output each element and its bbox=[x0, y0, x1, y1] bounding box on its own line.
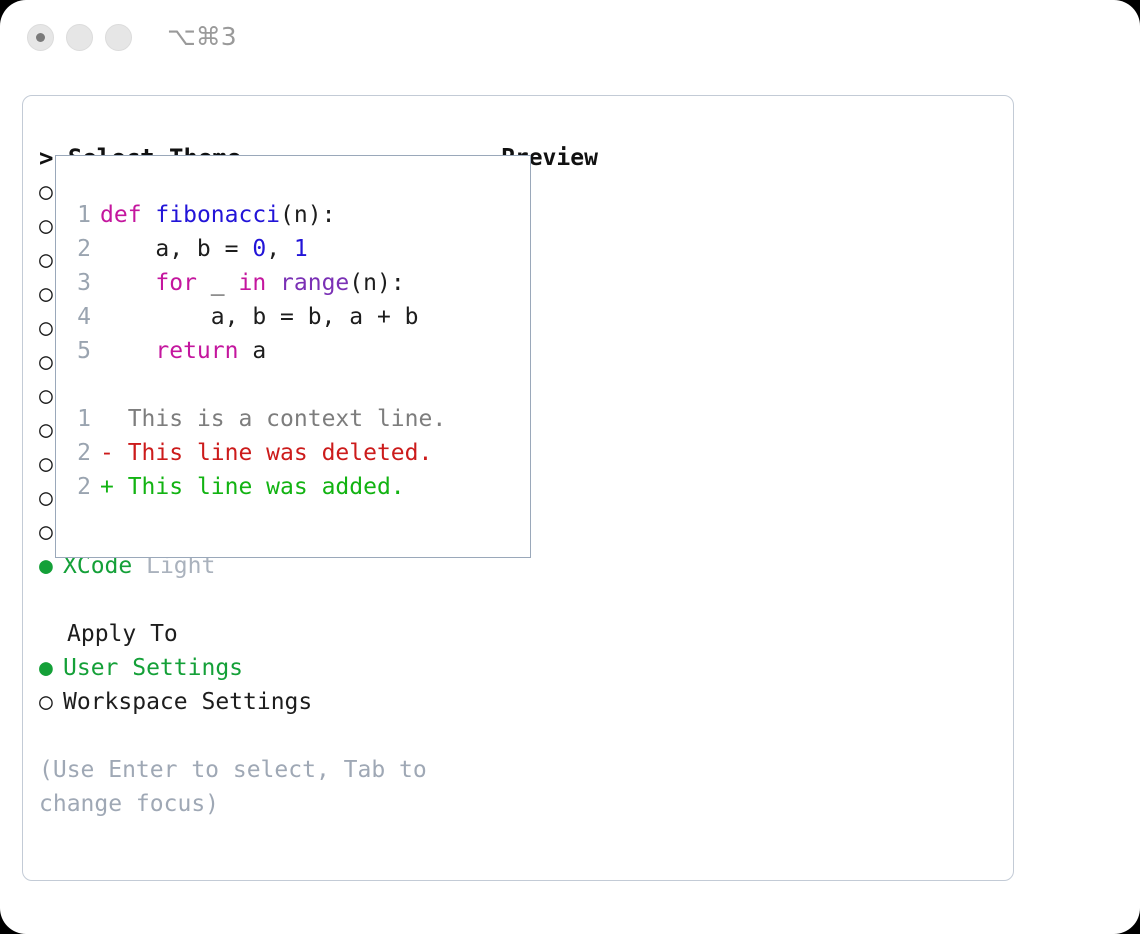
code-line: 1def fibonacci(n): bbox=[74, 198, 514, 232]
main-card: > Select Theme ○ ANSI Dark○ Atom One Dar… bbox=[22, 95, 1014, 881]
radio-selected-icon: ● bbox=[39, 651, 63, 685]
apply-to-heading: Apply To bbox=[39, 617, 479, 651]
line-number: 4 bbox=[74, 300, 91, 334]
apply-to-option[interactable]: ○ Workspace Settings bbox=[39, 685, 479, 719]
code-token: a bbox=[238, 338, 266, 364]
code-token: _ bbox=[197, 270, 239, 296]
apply-to-label: User Settings bbox=[63, 655, 243, 681]
app-window: ⌥⌘3 > Select Theme ○ ANSI Dark○ Atom One… bbox=[0, 0, 1140, 934]
code-token bbox=[142, 202, 156, 228]
code-token: a, b = bbox=[100, 236, 252, 262]
window-titlebar: ⌥⌘3 bbox=[0, 0, 1140, 80]
diff-lines: 1 This is a context line.2- This line wa… bbox=[74, 402, 514, 504]
apply-to-label: Workspace Settings bbox=[63, 689, 312, 715]
code-token: a, b = b, a + b bbox=[100, 304, 419, 330]
code-token: (n): bbox=[280, 202, 335, 228]
diff-marker bbox=[100, 406, 128, 432]
apply-to-list: ● User Settings○ Workspace Settings bbox=[39, 651, 479, 719]
diff-line: 2- This line was deleted. bbox=[74, 436, 514, 470]
code-line: 3 for _ in range(n): bbox=[74, 266, 514, 300]
preview-heading: Preview bbox=[501, 141, 1001, 175]
preview-pane: Preview bbox=[501, 141, 1001, 175]
code-token: 0 bbox=[252, 236, 266, 262]
apply-to-option[interactable]: ● User Settings bbox=[39, 651, 479, 685]
code-token bbox=[100, 338, 155, 364]
traffic-lights bbox=[27, 24, 132, 51]
spacer bbox=[39, 583, 479, 617]
close-dot[interactable] bbox=[27, 24, 54, 51]
preview-box: 1def fibonacci(n):2 a, b = 0, 13 for _ i… bbox=[55, 155, 531, 558]
line-number: 1 bbox=[74, 198, 91, 232]
code-blank-line bbox=[74, 368, 514, 402]
diff-text: This line was deleted. bbox=[128, 440, 433, 466]
code-token: 1 bbox=[294, 236, 308, 262]
minimize-dot[interactable] bbox=[66, 24, 93, 51]
radio-unselected-icon: ○ bbox=[39, 685, 63, 719]
code-token bbox=[100, 270, 155, 296]
code-token: (n): bbox=[349, 270, 404, 296]
code-lines: 1def fibonacci(n):2 a, b = 0, 13 for _ i… bbox=[74, 198, 514, 368]
code-token: , bbox=[266, 236, 294, 262]
keyboard-hint-text: (Use Enter to select, Tab to change focu… bbox=[39, 753, 439, 821]
line-number: 5 bbox=[74, 334, 91, 368]
code-token: range bbox=[280, 270, 349, 296]
line-number: 2 bbox=[74, 470, 91, 504]
diff-marker: - bbox=[100, 440, 128, 466]
code-token: return bbox=[155, 338, 238, 364]
diff-line: 2+ This line was added. bbox=[74, 470, 514, 504]
code-token: in bbox=[238, 270, 266, 296]
code-line: 4 a, b = b, a + b bbox=[74, 300, 514, 334]
diff-marker: + bbox=[100, 474, 128, 500]
spacer bbox=[39, 719, 479, 753]
diff-line: 1 This is a context line. bbox=[74, 402, 514, 436]
code-token: for bbox=[155, 270, 197, 296]
line-number: 1 bbox=[74, 402, 91, 436]
code-line: 5 return a bbox=[74, 334, 514, 368]
code-token: def bbox=[100, 202, 142, 228]
line-number: 2 bbox=[74, 232, 91, 266]
line-number: 2 bbox=[74, 436, 91, 470]
diff-text: This line was added. bbox=[128, 474, 405, 500]
code-token: fibonacci bbox=[155, 202, 280, 228]
keyboard-shortcut-label: ⌥⌘3 bbox=[167, 22, 237, 51]
close-dot-inner bbox=[36, 33, 45, 42]
code-line: 2 a, b = 0, 1 bbox=[74, 232, 514, 266]
code-token bbox=[266, 270, 280, 296]
line-number: 3 bbox=[74, 266, 91, 300]
diff-text: This is a context line. bbox=[128, 406, 447, 432]
code-sample: 1def fibonacci(n):2 a, b = 0, 13 for _ i… bbox=[74, 198, 514, 504]
zoom-dot[interactable] bbox=[105, 24, 132, 51]
